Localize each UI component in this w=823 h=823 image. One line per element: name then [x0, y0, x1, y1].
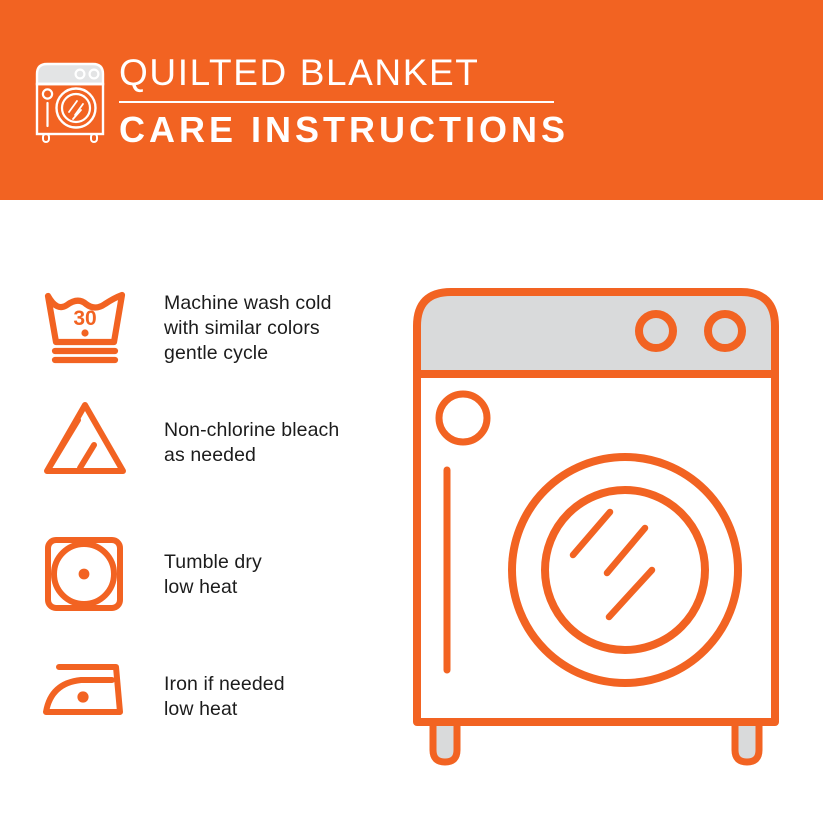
- header-title-block: QUILTED BLANKET CARE INSTRUCTIONS: [117, 54, 587, 149]
- washer-body: [417, 374, 775, 722]
- care-item-tumble-dry-label: Tumble dry low heat: [164, 530, 262, 600]
- wash-temperature-value: 30: [73, 307, 96, 330]
- header-banner: QUILTED BLANKET CARE INSTRUCTIONS: [0, 0, 823, 200]
- care-item-bleach: Non-chlorine bleach as needed: [38, 396, 388, 482]
- non-chlorine-bleach-triangle-icon: [38, 396, 134, 482]
- care-instruction-list: 30 Machine wash cold with similar colors…: [0, 200, 400, 823]
- page-subtitle: CARE INSTRUCTIONS: [117, 109, 587, 149]
- care-item-bleach-label: Non-chlorine bleach as needed: [164, 396, 339, 468]
- care-instructions-page: QUILTED BLANKET CARE INSTRUCTIONS 30 Mac: [0, 0, 823, 823]
- care-item-iron-label: Iron if needed low heat: [164, 650, 285, 722]
- wash-tub-30-gentle-icon: 30: [38, 282, 134, 368]
- iron-low-heat-icon: [38, 650, 134, 736]
- tumble-dry-low-heat-icon: [38, 530, 134, 616]
- front-load-washing-machine-illustration: [405, 270, 805, 770]
- washer-control-panel: [417, 292, 775, 374]
- washing-machine-logo-icon: [33, 52, 107, 148]
- page-title: QUILTED BLANKET: [117, 54, 587, 97]
- care-item-wash-label: Machine wash cold with similar colors ge…: [164, 282, 332, 366]
- care-item-iron: Iron if needed low heat: [38, 650, 388, 736]
- care-item-wash: 30 Machine wash cold with similar colors…: [38, 282, 388, 368]
- care-item-tumble-dry: Tumble dry low heat: [38, 530, 388, 616]
- title-divider: [119, 101, 554, 103]
